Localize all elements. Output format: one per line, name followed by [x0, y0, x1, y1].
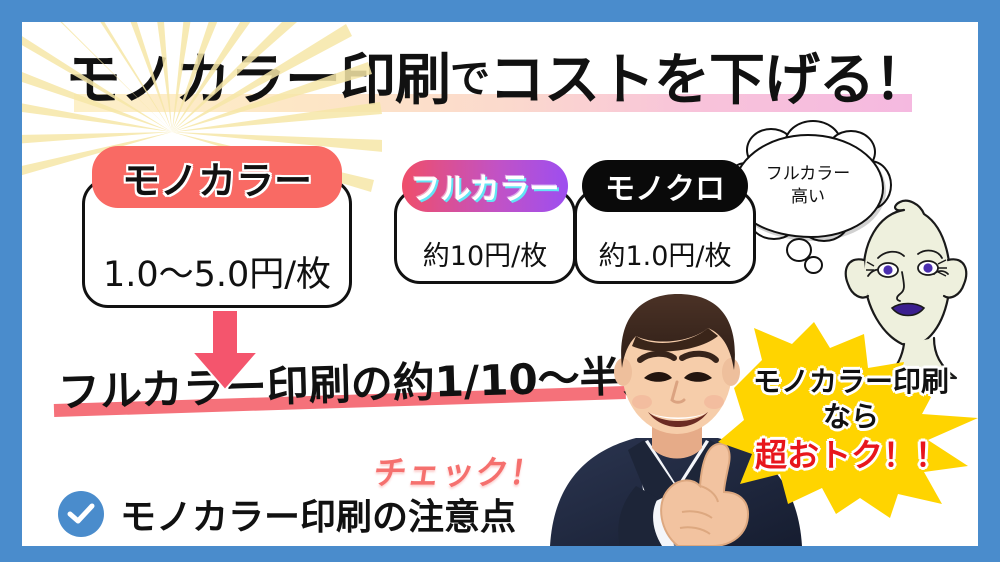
title-particle: で [450, 46, 489, 104]
price-value: 約10円/枚 [423, 234, 547, 281]
title-rest: コストを下げる！ [489, 35, 929, 116]
burst-line-3: 超おトク！！ [755, 437, 947, 475]
slide-canvas: モノカラー印刷 で コストを下げる！ 1.0〜5.0円/枚 モノカラー 約10円… [22, 22, 978, 546]
price-card-pill-label: フルカラー [402, 160, 568, 212]
slide-root: モノカラー印刷 で コストを下げる！ 1.0〜5.0円/枚 モノカラー 約10円… [0, 0, 1000, 562]
price-card-pill-label: モノカラー [92, 146, 342, 208]
check-row-label: モノカラー印刷の注意点 [120, 488, 516, 540]
check-kicker-label: チェック！ [371, 446, 548, 494]
price-card-monochrome: 約1.0円/枚 モノクロ [574, 160, 756, 212]
burst-line-1: モノカラー印刷 [753, 365, 949, 398]
starburst-text: モノカラー印刷 なら 超おトク！！ [718, 322, 978, 518]
check-row[interactable]: モノカラー印刷の注意点 [58, 488, 516, 540]
price-card-monocolor: 1.0〜5.0円/枚 モノカラー [82, 146, 352, 208]
burst-line-2: なら [823, 400, 879, 433]
thought-line-1: フルカラー [766, 163, 851, 186]
price-card-pill-label: モノクロ [582, 160, 748, 212]
check-circle-icon [58, 491, 104, 537]
starburst-callout: モノカラー印刷 なら 超おトク！！ [718, 322, 978, 518]
price-value: 約1.0円/枚 [598, 234, 731, 281]
down-arrow-icon [190, 310, 260, 392]
price-card-fullcolor: 約10円/枚 フルカラー [394, 160, 576, 212]
